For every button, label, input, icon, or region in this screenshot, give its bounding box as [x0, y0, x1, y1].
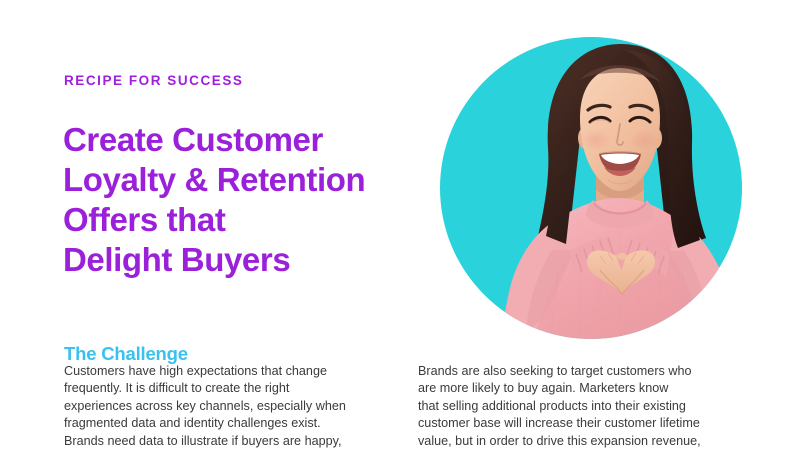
body-line: are more likely to buy again. Marketers … [418, 380, 758, 397]
body-line: Customers have high expectations that ch… [64, 363, 394, 380]
hero-image-block [430, 20, 780, 350]
body-column-left: Customers have high expectations that ch… [64, 363, 394, 450]
page-title: Create Customer Loyalty & Retention Offe… [63, 120, 423, 280]
body-line: experiences across key channels, especia… [64, 398, 394, 415]
headline-line-1: Create Customer [63, 120, 423, 160]
body-line: Brands need data to illustrate if buyers… [64, 433, 394, 450]
photo-woman-heart-hands [430, 20, 780, 350]
headline-line-3: Offers that [63, 200, 423, 240]
body-line: fragmented data and identity challenges … [64, 415, 394, 432]
body-line: Brands are also seeking to target custom… [418, 363, 758, 380]
headline-line-4: Delight Buyers [63, 240, 423, 280]
body-line: value, but in order to drive this expans… [418, 433, 758, 450]
body-line: that selling additional products into th… [418, 398, 758, 415]
body-column-right: Brands are also seeking to target custom… [418, 363, 758, 450]
body-line: frequently. It is difficult to create th… [64, 380, 394, 397]
document-page: RECIPE FOR SUCCESS Create Customer Loyal… [0, 0, 800, 450]
headline-line-2: Loyalty & Retention [63, 160, 423, 200]
eyebrow-label: RECIPE FOR SUCCESS [64, 73, 243, 89]
body-line: customer base will increase their custom… [418, 415, 758, 432]
